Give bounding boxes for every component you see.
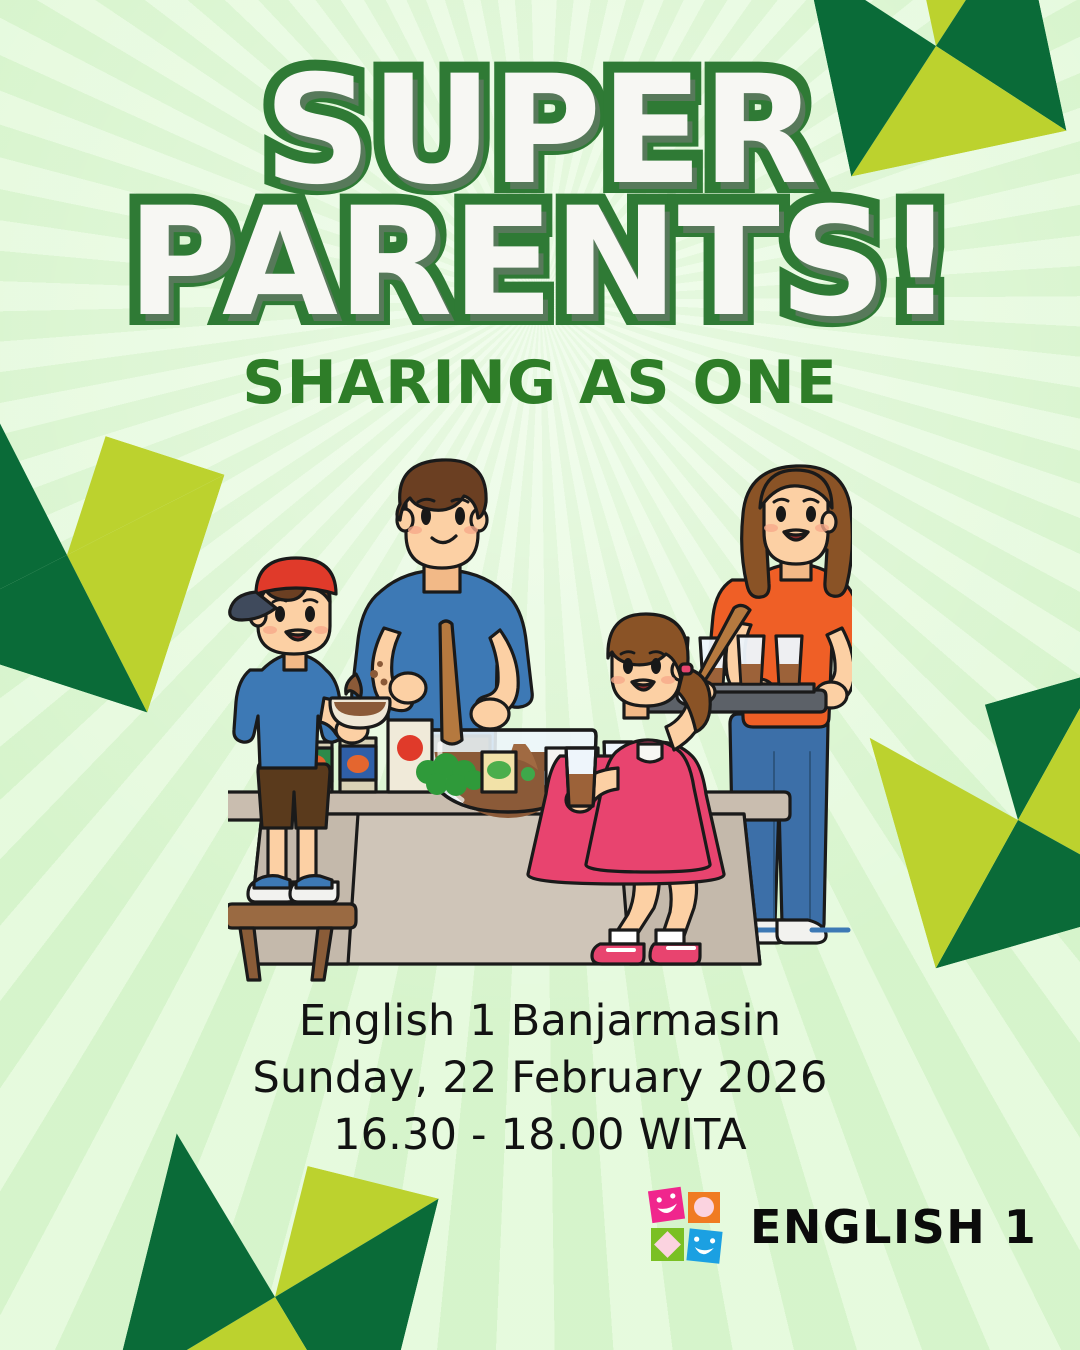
logo-tile-orange-circle: [688, 1192, 720, 1223]
title-line-2: PARENTS!: [0, 194, 1080, 332]
poster-canvas: SUPER PARENTS! SHARING AS ONE: [0, 0, 1080, 1350]
brand-name: ENGLISH 1: [750, 1200, 1037, 1254]
event-date: Sunday, 22 February 2026: [0, 1050, 1080, 1107]
event-location: English 1 Banjarmasin: [0, 993, 1080, 1050]
poster-title-block: SUPER PARENTS! SHARING AS ONE: [0, 62, 1080, 418]
event-details-block: English 1 Banjarmasin Sunday, 22 Februar…: [0, 993, 1080, 1165]
logo-tile-blue-smiley: [686, 1228, 722, 1263]
event-time: 16.30 - 18.00 WITA: [0, 1107, 1080, 1164]
logo-tile-green-diamond: [651, 1228, 684, 1261]
brand-logo: ENGLISH 1: [648, 1186, 1037, 1268]
family-sharing-food-illustration: [228, 452, 852, 982]
english1-logo-mark: [648, 1186, 726, 1268]
logo-tile-pink-smiley: [648, 1187, 685, 1223]
poster-subtitle: SHARING AS ONE: [0, 348, 1080, 418]
